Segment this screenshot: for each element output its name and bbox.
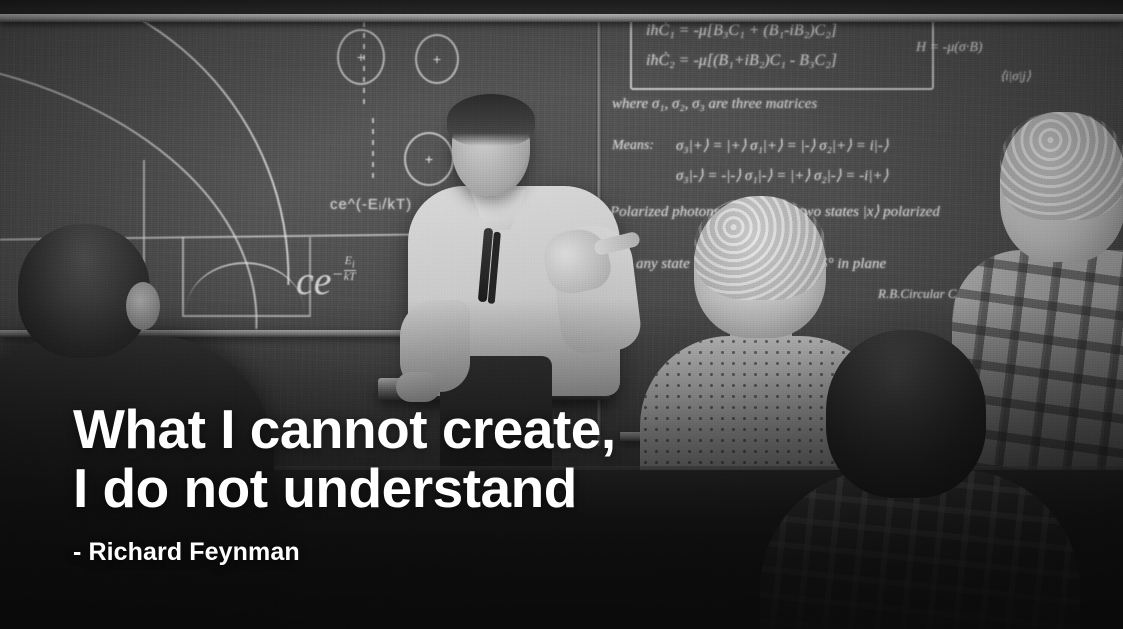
hamiltonian-line: H = -μ(σ·B): [916, 40, 983, 56]
charge-circle-two: +: [415, 34, 459, 84]
student-right-plaid-hair: [1000, 112, 1123, 220]
quote-attribution: - Richard Feynman: [73, 538, 833, 567]
blackboard-top-shadow: [0, 0, 1123, 14]
quote-line-2: I do not understand: [73, 459, 833, 518]
student-dark-hair-head: [826, 330, 986, 498]
quote-text: What I cannot create, I do not understan…: [73, 400, 833, 518]
student-left-foreground-ear: [126, 282, 160, 330]
pauli-row-two: σ₃|-⟩ = -|-⟩ σ₁|-⟩ = |+⟩ σ₂|-⟩ = -i|+⟩: [676, 166, 888, 185]
chalk-rail-top: [0, 14, 1123, 22]
means-label: Means:: [612, 138, 654, 154]
dashed-field-line-two: [372, 118, 374, 178]
dist-label: ce^(-Eᵢ/kT): [330, 196, 412, 213]
quote-card: ce^(-Eᵢ/kT) ce−EikT + + + ⊕ iħĊ₁ = -μ[B₃…: [0, 0, 1123, 629]
feynman-hair: [447, 94, 535, 146]
charge-circle-three: +: [404, 132, 454, 186]
matrices-line: where σ₁, σ₂, σ₃ are three matrices: [612, 96, 817, 113]
boxed-equation-1: iħĊ₁ = -μ[B₃C₁ + (B₁-iB₂)C₂]: [646, 22, 837, 40]
quote-caption: What I cannot create, I do not understan…: [73, 400, 833, 567]
boltzmann-factor: ce−EikT: [296, 255, 356, 304]
pauli-row-one: σ₃|+⟩ = |+⟩ σ₁|+⟩ = |-⟩ σ₂|+⟩ = i|-⟩: [676, 136, 889, 155]
boxed-equation-2: iħĊ₂ = -μ[(B₁+iB₂)C₁ - B₃C₂]: [646, 52, 837, 70]
student-polka-dot-hair: [694, 196, 826, 300]
matrix-element-line: ⟨i|σ|j⟩: [1000, 68, 1031, 84]
dashed-field-line-one: [363, 22, 365, 108]
charge-circle-one: +: [337, 29, 385, 85]
quote-line-1: What I cannot create,: [73, 400, 833, 459]
